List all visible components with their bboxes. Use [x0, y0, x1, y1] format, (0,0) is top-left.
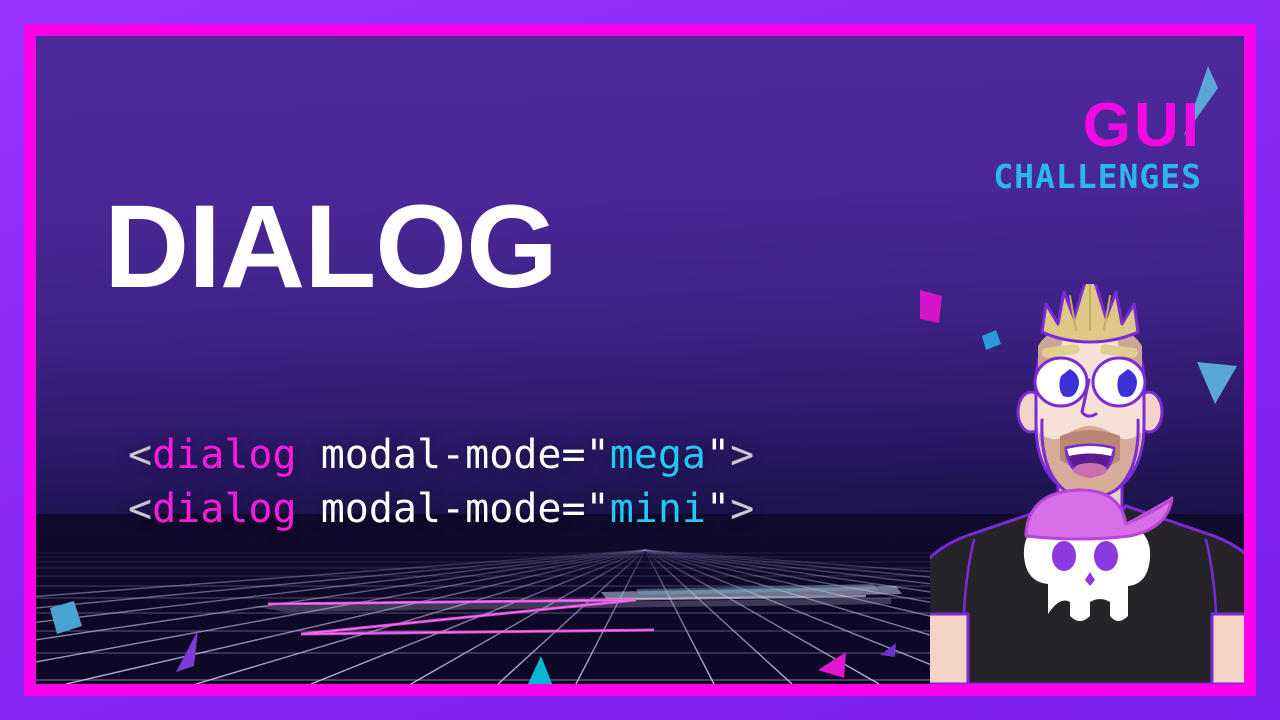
code-attr-value: mega: [610, 432, 706, 478]
code-line-2: <dialog modal-mode="mini">: [128, 482, 754, 536]
code-snippet: <dialog modal-mode="mega"><dialog modal-…: [128, 428, 754, 536]
page-title: DIALOG: [104, 188, 557, 306]
code-space: [297, 486, 321, 532]
code-open-angle: <: [128, 486, 152, 532]
artwork-canvas: DIALOG <dialog modal-mode="mega"><dialog…: [36, 36, 1244, 684]
code-quote-close: ": [706, 486, 730, 532]
logo-gui-text: GUI: [993, 96, 1202, 157]
purple-sliver-bottom-right-icon: [876, 641, 900, 665]
code-space: [297, 432, 321, 478]
code-quote-close: ": [706, 432, 730, 478]
magenta-arrow-bottom-icon: [808, 648, 853, 684]
code-line-1: <dialog modal-mode="mega">: [128, 428, 754, 482]
code-attr-name: modal-mode=: [321, 486, 586, 532]
cyan-triangle-bottom-icon: [521, 654, 561, 684]
gui-challenges-logo: GUI CHALLENGES: [993, 96, 1202, 195]
code-tag-name: dialog: [152, 486, 297, 532]
logo-challenges-text: CHALLENGES: [993, 159, 1202, 195]
purple-triangle-bottom-left-icon: [166, 626, 211, 681]
code-close-angle: >: [730, 432, 754, 478]
code-tag-name: dialog: [152, 432, 297, 478]
code-quote-open: ": [586, 486, 610, 532]
presenter-avatar: [930, 284, 1244, 684]
thumbnail-stage: DIALOG <dialog modal-mode="mega"><dialog…: [0, 0, 1280, 720]
code-attr-value: mini: [610, 486, 706, 532]
blue-square-bottom-left-icon: [44, 596, 92, 644]
code-quote-open: ": [586, 432, 610, 478]
code-open-angle: <: [128, 432, 152, 478]
code-attr-name: modal-mode=: [321, 432, 586, 478]
code-close-angle: >: [730, 486, 754, 532]
